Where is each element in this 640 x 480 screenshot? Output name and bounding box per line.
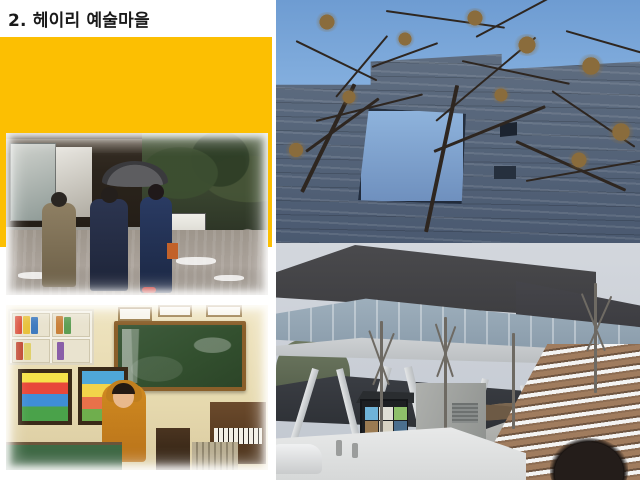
- dried-leaf-cluster: [394, 30, 416, 48]
- photo-street-shop-scene: [6, 133, 268, 295]
- wall-frame-small-mid: [158, 305, 192, 317]
- wall-frame-small-right: [206, 305, 242, 317]
- presentation-slide: 2. 헤이리 예술마을: [0, 0, 640, 480]
- snow-patch: [214, 275, 244, 281]
- dried-leaf-cluster: [284, 140, 308, 160]
- person-khaki-coat: [42, 203, 76, 287]
- dried-leaf-cluster: [606, 120, 636, 144]
- bare-tree-trunk: [380, 321, 383, 451]
- person-navy-coat: [90, 199, 128, 291]
- bare-tree-trunk: [594, 283, 597, 393]
- snow-patch: [176, 257, 216, 265]
- dried-leaf-cluster: [576, 54, 606, 78]
- bollard: [336, 440, 342, 456]
- radiator: [192, 442, 238, 470]
- wall-vent: [494, 166, 516, 179]
- title-bar: 2. 헤이리 예술마을: [0, 0, 272, 36]
- red-shoe: [142, 287, 156, 293]
- bare-tree-trunk: [512, 333, 515, 429]
- bollard: [352, 443, 358, 458]
- chalkboard: [114, 321, 246, 391]
- dried-leaf-cluster: [490, 86, 512, 104]
- wooden-chair: [156, 428, 190, 470]
- person-blue-jacket: [140, 197, 172, 293]
- dried-leaf-cluster: [462, 8, 488, 28]
- dried-leaf-cluster: [566, 150, 592, 170]
- parked-car: [276, 444, 322, 474]
- page-title: 2. 헤이리 예술마을: [8, 6, 150, 31]
- dried-leaf-cluster: [512, 34, 542, 56]
- photo-gallery-building-exterior: [276, 243, 640, 480]
- photo-concrete-building-facade: [276, 0, 640, 243]
- dried-leaf-cluster: [338, 88, 360, 106]
- wall-frame-small-left: [118, 307, 152, 321]
- green-desk: [6, 442, 122, 470]
- dried-leaf-cluster: [314, 12, 340, 32]
- book-shelf: [8, 309, 94, 365]
- poster-summer-vacation: [18, 369, 72, 425]
- bare-tree-trunk: [444, 317, 447, 437]
- photo-classroom-interior: [6, 305, 268, 470]
